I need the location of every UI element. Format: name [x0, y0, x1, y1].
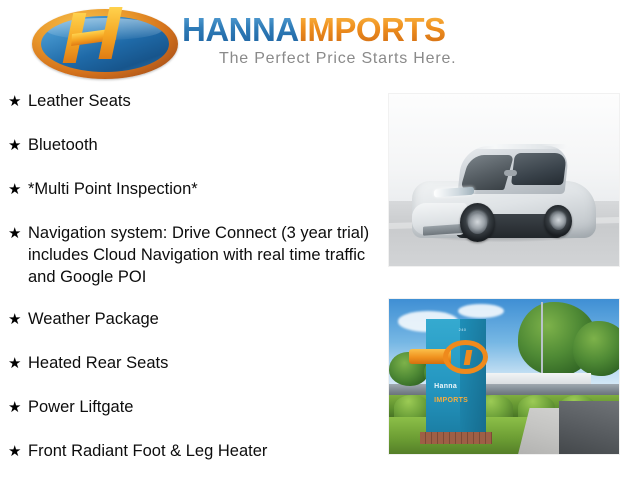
list-item-label: Heated Rear Seats: [28, 352, 372, 374]
monument-sign-face: [426, 319, 461, 434]
hanna-oval-h-logo-icon: [32, 9, 178, 79]
monument-brick-base: [420, 432, 492, 445]
brand-header: HANNAIMPORTS The Perfect Price Starts He…: [0, 0, 640, 88]
star-bullet-icon: ★: [8, 440, 28, 464]
list-item-label: Leather Seats: [28, 90, 372, 112]
vehicle-features-list: ★ Leather Seats ★ Bluetooth ★ *Multi Poi…: [0, 90, 372, 484]
monument-label-hanna: Hanna: [434, 383, 457, 390]
brand-wordmark-imports: IMPORTS: [299, 11, 446, 48]
star-bullet-icon: ★: [8, 352, 28, 376]
list-item: ★ Power Liftgate: [0, 396, 372, 420]
star-bullet-icon: ★: [8, 222, 28, 246]
vehicle-side-mirror: [504, 170, 517, 177]
brand-wordmark: HANNAIMPORTS: [182, 13, 446, 46]
logo-h-monogram: [64, 7, 128, 69]
list-item-label: Weather Package: [28, 308, 372, 330]
list-item-label: Front Radiant Foot & Leg Heater: [28, 440, 372, 462]
list-item: ★ Weather Package: [0, 308, 372, 332]
star-bullet-icon: ★: [8, 396, 28, 420]
vehicle-rear-wheel: [544, 205, 572, 237]
dealership-photo[interactable]: 240 Hanna IMPORTS: [388, 298, 620, 455]
list-item: ★ Bluetooth: [0, 134, 372, 158]
road: [559, 401, 619, 454]
list-item: ★ Heated Rear Seats: [0, 352, 372, 376]
tree: [573, 321, 620, 377]
list-item: ★ *Multi Point Inspection*: [0, 178, 372, 202]
list-item: ★ Leather Seats: [0, 90, 372, 114]
street-number-label: 240: [459, 327, 467, 332]
star-bullet-icon: ★: [8, 134, 28, 158]
list-item-label: Power Liftgate: [28, 396, 372, 418]
monument-sign: 240 Hanna IMPORTS: [426, 319, 486, 434]
brand-wordmark-hanna: HANNA: [182, 11, 299, 48]
list-item: ★ Navigation system: Drive Connect (3 ye…: [0, 222, 372, 288]
list-item: ★ Front Radiant Foot & Leg Heater: [0, 440, 372, 464]
monument-label-imports: IMPORTS: [434, 397, 468, 404]
cloud: [458, 304, 504, 318]
star-bullet-icon: ★: [8, 178, 28, 202]
vehicle-roof-line: [463, 144, 567, 149]
vehicle-front-wheel: [460, 203, 495, 242]
brand-tagline: The Perfect Price Starts Here.: [219, 50, 456, 68]
monument-h-logo-icon: [443, 340, 488, 374]
star-bullet-icon: ★: [8, 308, 28, 332]
list-item-label: Bluetooth: [28, 134, 372, 156]
vehicle-photo[interactable]: [388, 93, 620, 267]
list-item-label: *Multi Point Inspection*: [28, 178, 372, 200]
list-item-label: Navigation system: Drive Connect (3 year…: [28, 222, 372, 288]
star-bullet-icon: ★: [8, 90, 28, 114]
vehicle-side-window: [511, 153, 566, 185]
monument-h-stroke: [464, 350, 472, 365]
vehicle-illustration: [412, 146, 596, 239]
